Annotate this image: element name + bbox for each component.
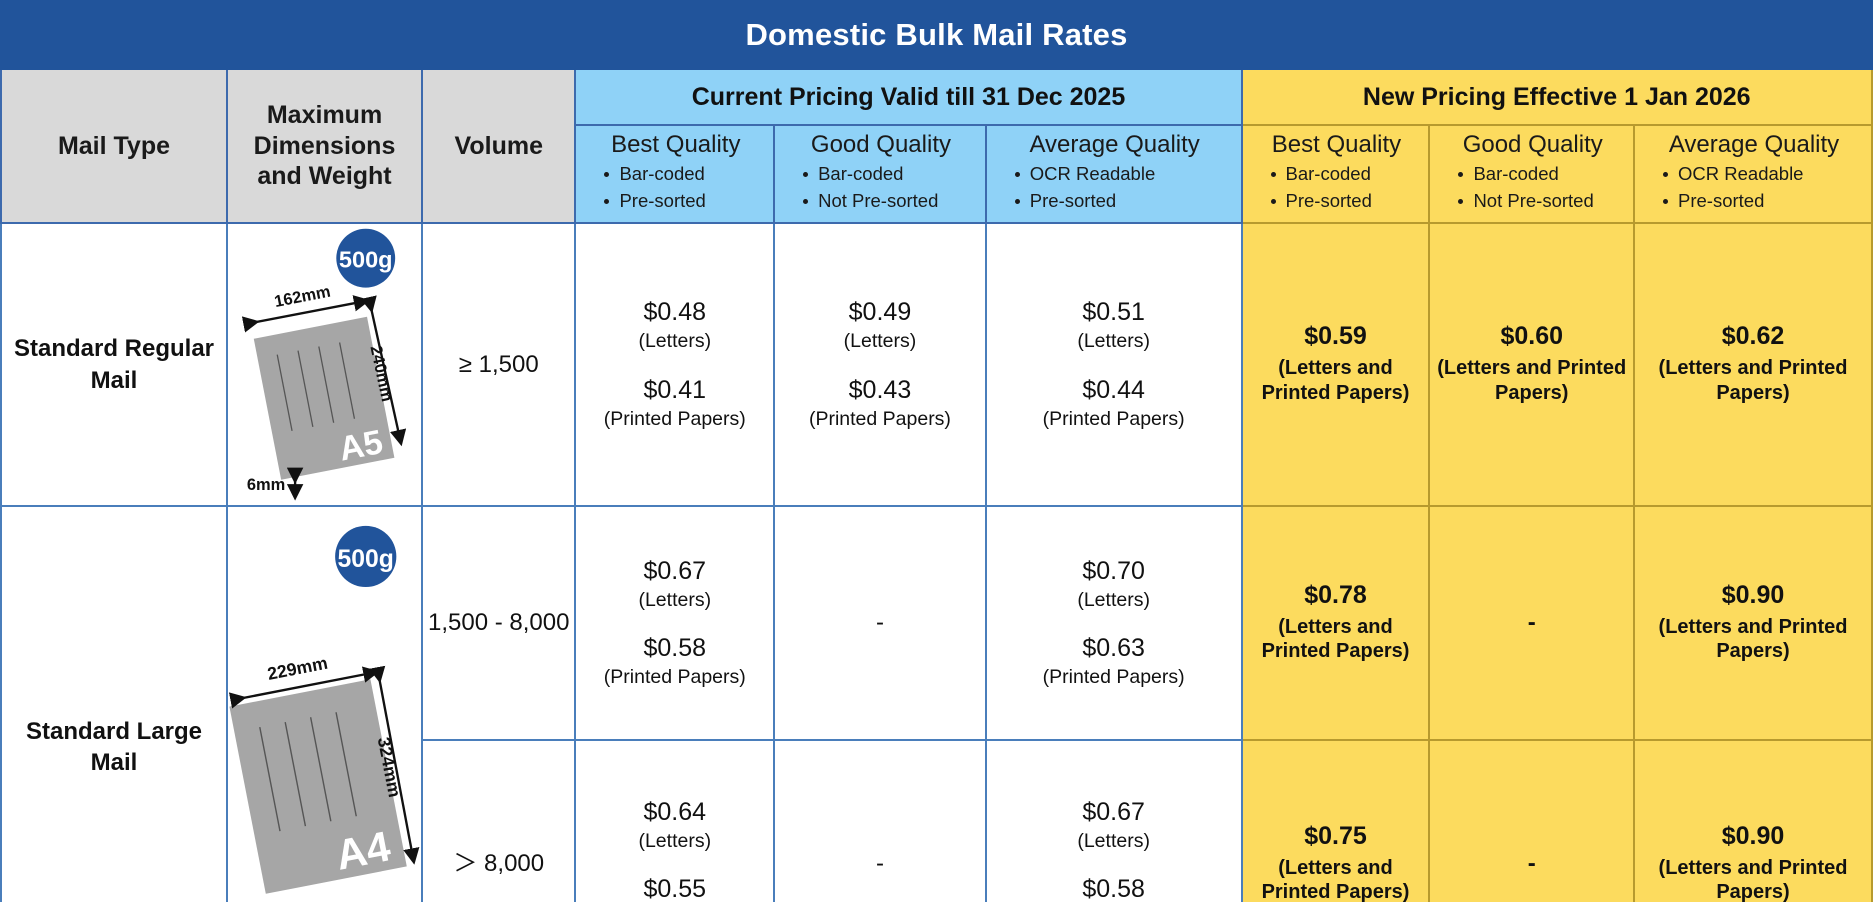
price-stack: $0.90 (Letters and Printed Papers) <box>1635 820 1871 902</box>
quality-title: Best Quality <box>1255 132 1419 158</box>
quality-bullet: Pre-sorted <box>1269 188 1419 214</box>
cell-new-best: $0.75 (Letters and Printed Papers) <box>1242 740 1430 902</box>
quality-bullets: OCR Readable Pre-sorted <box>999 161 1231 214</box>
price-amount: $0.62 <box>1641 324 1865 349</box>
envelope-diagram-a4: 500g A4 229mm <box>228 507 421 902</box>
price-letters: $0.64 <box>582 800 767 825</box>
price-letters-sub: (Letters) <box>582 832 767 852</box>
price-letters: $0.51 <box>993 300 1235 325</box>
cell-current-good: $0.49 (Letters) $0.43 (Printed Papers) <box>774 223 986 506</box>
quality-bullets: Bar-coded Not Pre-sorted <box>1442 161 1623 214</box>
price-letters: $0.70 <box>993 559 1235 584</box>
quality-bullets: Bar-coded Pre-sorted <box>1255 161 1419 214</box>
width-label: 229mm <box>266 653 330 684</box>
width-label: 162mm <box>273 282 332 311</box>
price-stack: $0.70 (Letters) $0.63 (Printed Papers) <box>987 555 1241 692</box>
price-stack: $0.48 (Letters) $0.41 (Printed Papers) <box>576 296 773 433</box>
table-row: Standard Large Mail 500g <box>1 506 1872 740</box>
price-sub: (Letters and Printed Papers) <box>1641 856 1865 902</box>
price-amount: $0.60 <box>1436 324 1627 349</box>
domestic-bulk-mail-rates-table: Domestic Bulk Mail Rates Mail Type Maxim… <box>0 0 1873 902</box>
price-papers: $0.41 <box>582 378 767 403</box>
price-stack: $0.62 (Letters and Printed Papers) <box>1635 320 1871 409</box>
spacer <box>993 352 1235 378</box>
cell-dimensions-a4: 500g A4 229mm <box>227 506 422 902</box>
spacer <box>993 851 1235 877</box>
price-sub: (Letters and Printed Papers) <box>1249 615 1423 664</box>
price-sub: (Letters and Printed Papers) <box>1436 356 1627 405</box>
cell-mail-type: Standard Regular Mail <box>1 223 227 506</box>
price-papers: $0.55 <box>582 877 767 902</box>
thickness-dimension-arrow: 6mm <box>247 476 295 494</box>
no-price-dash: - <box>876 850 884 877</box>
quality-bullets: Bar-coded Pre-sorted <box>588 161 763 214</box>
cell-dimensions-a5: 500g A5 <box>227 223 422 506</box>
price-stack: $0.60 (Letters and Printed Papers) <box>1430 320 1633 409</box>
price-papers-sub: (Printed Papers) <box>993 668 1235 688</box>
quality-bullet: Not Pre-sorted <box>801 188 975 214</box>
quality-title: Best Quality <box>588 132 763 158</box>
price-letters-sub: (Letters) <box>582 332 767 352</box>
width-dimension-arrow: 162mm <box>252 282 363 322</box>
col-header-dimensions: Maximum Dimensions and Weight <box>227 69 422 223</box>
price-papers-sub: (Printed Papers) <box>993 410 1235 430</box>
cell-new-best: $0.78 (Letters and Printed Papers) <box>1242 506 1430 740</box>
quality-bullet: OCR Readable <box>1661 161 1861 187</box>
cell-volume: ＞ 8,000 <box>422 740 575 902</box>
price-papers: $0.44 <box>993 378 1235 403</box>
envelope-shape: A4 <box>229 679 406 894</box>
col-header-current-good: Good Quality Bar-coded Not Pre-sorted <box>774 125 986 223</box>
spacer <box>582 851 767 877</box>
price-letters-sub: (Letters) <box>582 591 767 611</box>
price-stack: $0.51 (Letters) $0.44 (Printed Papers) <box>987 296 1241 433</box>
quality-title: Good Quality <box>1442 132 1623 158</box>
quality-bullets: OCR Readable Pre-sorted <box>1647 161 1861 214</box>
cell-current-average: $0.51 (Letters) $0.44 (Printed Papers) <box>986 223 1242 506</box>
price-stack: $0.90 (Letters and Printed Papers) <box>1635 579 1871 668</box>
price-letters-sub: (Letters) <box>993 832 1235 852</box>
paper-size-label: A5 <box>336 423 386 469</box>
no-price-dash: - <box>876 609 884 636</box>
price-papers: $0.58 <box>993 877 1235 902</box>
weight-badge-label: 500g <box>338 546 394 573</box>
quality-bullet: Bar-coded <box>1269 161 1419 187</box>
page-title: Domestic Bulk Mail Rates <box>1 1 1872 69</box>
cell-new-good: $0.60 (Letters and Printed Papers) <box>1429 223 1634 506</box>
cell-new-average: $0.90 (Letters and Printed Papers) <box>1634 740 1872 902</box>
quality-title: Average Quality <box>999 132 1231 158</box>
envelope-diagram-a5: 500g A5 <box>228 224 421 505</box>
band-header-row: Mail Type Maximum Dimensions and Weight … <box>1 69 1872 125</box>
price-letters: $0.67 <box>993 800 1235 825</box>
no-price-dash: - <box>1528 850 1536 877</box>
quality-title: Good Quality <box>787 132 975 158</box>
price-letters: $0.49 <box>781 300 979 325</box>
col-header-new-average: Average Quality OCR Readable Pre-sorted <box>1634 125 1872 223</box>
price-amount: $0.90 <box>1641 583 1865 608</box>
price-letters-sub: (Letters) <box>993 591 1235 611</box>
col-header-current-best: Best Quality Bar-coded Pre-sorted <box>575 125 774 223</box>
cell-mail-type: Standard Large Mail <box>1 506 227 902</box>
price-papers-sub: (Printed Papers) <box>582 668 767 688</box>
quality-title: Average Quality <box>1647 132 1861 158</box>
price-stack: $0.78 (Letters and Printed Papers) <box>1243 579 1429 668</box>
no-price-dash: - <box>1528 609 1536 636</box>
col-header-mail-type: Mail Type <box>1 69 227 223</box>
price-letters: $0.67 <box>582 559 767 584</box>
col-header-current-average: Average Quality OCR Readable Pre-sorted <box>986 125 1242 223</box>
price-sub: (Letters and Printed Papers) <box>1249 356 1423 405</box>
quality-bullet: Bar-coded <box>602 161 763 187</box>
cell-new-average: $0.62 (Letters and Printed Papers) <box>1634 223 1872 506</box>
price-letters-sub: (Letters) <box>781 332 979 352</box>
cell-current-average: $0.70 (Letters) $0.63 (Printed Papers) <box>986 506 1242 740</box>
price-sub: (Letters and Printed Papers) <box>1641 615 1865 664</box>
cell-volume: ≥ 1,500 <box>422 223 575 506</box>
table-row: Standard Regular Mail 500g A5 <box>1 223 1872 506</box>
price-sub: (Letters and Printed Papers) <box>1249 856 1423 902</box>
price-stack: $0.59 (Letters and Printed Papers) <box>1243 320 1429 409</box>
quality-bullets: Bar-coded Not Pre-sorted <box>787 161 975 214</box>
price-stack: $0.49 (Letters) $0.43 (Printed Papers) <box>775 296 985 433</box>
cell-volume: 1,500 - 8,000 <box>422 506 575 740</box>
price-papers: $0.58 <box>582 636 767 661</box>
quality-bullet: Pre-sorted <box>1013 188 1231 214</box>
rate-table-page: Domestic Bulk Mail Rates Mail Type Maxim… <box>0 0 1873 902</box>
col-header-new-best: Best Quality Bar-coded Pre-sorted <box>1242 125 1430 223</box>
col-header-new-good: Good Quality Bar-coded Not Pre-sorted <box>1429 125 1634 223</box>
cell-current-best: $0.67 (Letters) $0.58 (Printed Papers) <box>575 506 774 740</box>
price-stack: $0.67 (Letters) $0.58 (Printed Papers) <box>987 796 1241 902</box>
price-stack: $0.67 (Letters) $0.58 (Printed Papers) <box>576 555 773 692</box>
band-new-pricing: New Pricing Effective 1 Jan 2026 <box>1242 69 1872 125</box>
weight-badge-label: 500g <box>339 246 393 272</box>
price-sub: (Letters and Printed Papers) <box>1641 356 1865 405</box>
price-papers: $0.63 <box>993 636 1235 661</box>
band-current-pricing: Current Pricing Valid till 31 Dec 2025 <box>575 69 1241 125</box>
cell-current-good: - <box>774 506 986 740</box>
price-amount: $0.78 <box>1249 583 1423 608</box>
quality-bullet: Pre-sorted <box>602 188 763 214</box>
cell-new-best: $0.59 (Letters and Printed Papers) <box>1242 223 1430 506</box>
price-letters-sub: (Letters) <box>993 332 1235 352</box>
spacer <box>781 352 979 378</box>
quality-bullet: Pre-sorted <box>1661 188 1861 214</box>
envelope-shape: A5 <box>254 317 395 481</box>
quality-bullet: Bar-coded <box>1456 161 1623 187</box>
title-row: Domestic Bulk Mail Rates <box>1 1 1872 69</box>
cell-current-average: $0.67 (Letters) $0.58 (Printed Papers) <box>986 740 1242 902</box>
price-papers: $0.43 <box>781 378 979 403</box>
price-stack: $0.64 (Letters) $0.55 (Printed Papers) <box>576 796 773 902</box>
cell-current-best: $0.48 (Letters) $0.41 (Printed Papers) <box>575 223 774 506</box>
price-letters: $0.48 <box>582 300 767 325</box>
spacer <box>582 610 767 636</box>
cell-new-good: - <box>1429 506 1634 740</box>
cell-new-average: $0.90 (Letters and Printed Papers) <box>1634 506 1872 740</box>
cell-current-best: $0.64 (Letters) $0.55 (Printed Papers) <box>575 740 774 902</box>
col-header-volume: Volume <box>422 69 575 223</box>
spacer <box>993 610 1235 636</box>
price-papers-sub: (Printed Papers) <box>582 410 767 430</box>
price-amount: $0.59 <box>1249 324 1423 349</box>
quality-bullet: OCR Readable <box>1013 161 1231 187</box>
price-amount: $0.75 <box>1249 824 1423 849</box>
thickness-label: 6mm <box>247 476 285 494</box>
price-amount: $0.90 <box>1641 824 1865 849</box>
quality-bullet: Bar-coded <box>801 161 975 187</box>
quality-bullet: Not Pre-sorted <box>1456 188 1623 214</box>
price-papers-sub: (Printed Papers) <box>781 410 979 430</box>
cell-current-good: - <box>774 740 986 902</box>
spacer <box>582 352 767 378</box>
cell-new-good: - <box>1429 740 1634 902</box>
price-stack: $0.75 (Letters and Printed Papers) <box>1243 820 1429 902</box>
